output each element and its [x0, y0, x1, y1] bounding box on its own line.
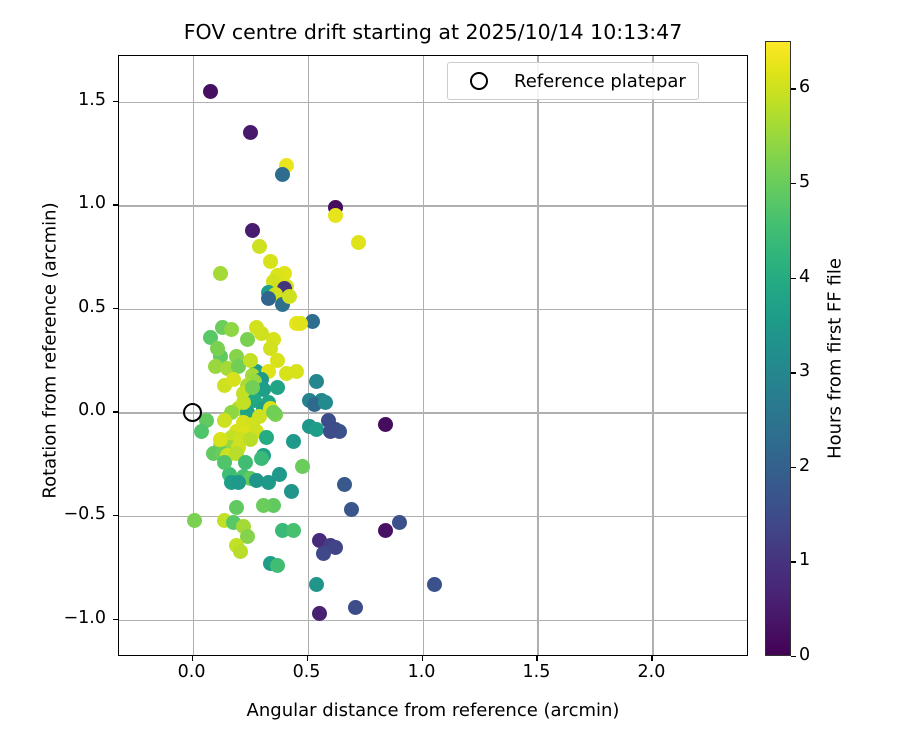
scatter-point[interactable]	[286, 434, 301, 449]
gridline-vertical	[193, 56, 194, 655]
gridline-horizontal	[119, 102, 747, 103]
x-tick-mark	[192, 656, 193, 661]
scatter-point[interactable]	[236, 395, 251, 410]
scatter-point[interactable]	[243, 353, 258, 368]
scatter-point[interactable]	[275, 167, 290, 182]
colorbar-tick-mark	[791, 183, 796, 184]
scatter-point[interactable]	[351, 235, 366, 250]
scatter-point[interactable]	[282, 289, 297, 304]
scatter-point[interactable]	[344, 502, 359, 517]
scatter-point[interactable]	[263, 254, 278, 269]
scatter-point[interactable]	[392, 515, 407, 530]
legend[interactable]: Reference platepar	[447, 62, 699, 100]
legend-entry-label: Reference platepar	[514, 71, 686, 92]
scatter-point[interactable]	[194, 424, 209, 439]
gridline-vertical	[537, 56, 538, 655]
x-axis-label: Angular distance from reference (arcmin)	[118, 700, 748, 721]
gridline-horizontal	[119, 516, 747, 517]
colorbar-tick-label: 0	[799, 645, 810, 665]
y-tick-mark	[113, 204, 118, 205]
gridline-vertical	[423, 56, 424, 655]
scatter-point[interactable]	[245, 380, 260, 395]
y-tick-mark	[113, 619, 118, 620]
x-tick-mark	[536, 656, 537, 661]
gridline-vertical	[652, 56, 653, 655]
scatter-point[interactable]	[427, 577, 442, 592]
y-tick-mark	[113, 308, 118, 309]
scatter-point[interactable]	[226, 372, 241, 387]
scatter-point[interactable]	[337, 477, 352, 492]
y-tick-mark	[113, 101, 118, 102]
scatter-point[interactable]	[323, 424, 338, 439]
scatter-point[interactable]	[272, 467, 287, 482]
scatter-point[interactable]	[210, 341, 225, 356]
colorbar-tick-mark	[791, 372, 796, 373]
plot-axes-area[interactable]	[118, 55, 748, 656]
scatter-point[interactable]	[213, 266, 228, 281]
scatter-point[interactable]	[217, 455, 232, 470]
scatter-point[interactable]	[252, 409, 267, 424]
scatter-point[interactable]	[240, 332, 255, 347]
gridline-horizontal	[119, 309, 747, 310]
y-tick-mark	[113, 411, 118, 412]
y-tick-mark	[113, 515, 118, 516]
x-tick-mark	[422, 656, 423, 661]
colorbar-tick-label: 2	[799, 456, 810, 476]
legend-open-circle-icon	[470, 72, 488, 90]
scatter-point[interactable]	[286, 523, 301, 538]
x-tick-mark	[651, 656, 652, 661]
scatter-point[interactable]	[312, 606, 327, 621]
scatter-point[interactable]	[270, 558, 285, 573]
figure-canvas: FOV centre drift starting at 2025/10/14 …	[0, 0, 900, 750]
scatter-point[interactable]	[284, 484, 299, 499]
scatter-point[interactable]	[378, 523, 393, 538]
scatter-point[interactable]	[261, 291, 276, 306]
x-tick-label: 1.5	[501, 662, 571, 682]
scatter-point[interactable]	[293, 316, 308, 331]
gridline-horizontal	[119, 412, 747, 413]
scatter-point[interactable]	[233, 544, 248, 559]
colorbar-tick-mark	[791, 561, 796, 562]
gridline-horizontal	[119, 620, 747, 621]
scatter-point[interactable]	[266, 405, 281, 420]
x-tick-label: 1.0	[387, 662, 457, 682]
colorbar-tick-mark	[791, 278, 796, 279]
reference-platepar-marker[interactable]	[183, 403, 202, 422]
scatter-point[interactable]	[231, 475, 246, 490]
gridline-vertical	[308, 56, 309, 655]
colorbar-tick-mark	[791, 656, 796, 657]
colorbar-tick-mark	[791, 467, 796, 468]
scatter-point[interactable]	[318, 395, 333, 410]
scatter-point[interactable]	[252, 239, 267, 254]
x-tick-label: 0.5	[272, 662, 342, 682]
colorbar-tick-label: 5	[799, 172, 810, 192]
colorbar-tick-label: 4	[799, 267, 810, 287]
scatter-point[interactable]	[224, 322, 239, 337]
gridline-horizontal	[119, 205, 747, 206]
scatter-point[interactable]	[203, 84, 218, 99]
scatter-point[interactable]	[328, 208, 343, 223]
y-axis-label: Rotation from reference (arcmin)	[40, 31, 61, 671]
colorbar-tick-mark	[791, 88, 796, 89]
colorbar-gradient[interactable]	[765, 41, 791, 656]
scatter-point[interactable]	[378, 417, 393, 432]
scatter-point[interactable]	[245, 223, 260, 238]
scatter-point[interactable]	[238, 455, 253, 470]
scatter-point[interactable]	[229, 500, 244, 515]
x-tick-label: 0.0	[157, 662, 227, 682]
scatter-point[interactable]	[254, 451, 269, 466]
colorbar-tick-label: 6	[799, 77, 810, 97]
scatter-point[interactable]	[316, 546, 331, 561]
scatter-point[interactable]	[259, 430, 274, 445]
scatter-point[interactable]	[243, 125, 258, 140]
scatter-point[interactable]	[213, 432, 228, 447]
colorbar-tick-label: 1	[799, 550, 810, 570]
scatter-point[interactable]	[270, 380, 285, 395]
scatter-point[interactable]	[289, 364, 304, 379]
chart-title: FOV centre drift starting at 2025/10/14 …	[118, 20, 748, 44]
scatter-point[interactable]	[187, 513, 202, 528]
x-tick-mark	[307, 656, 308, 661]
scatter-point[interactable]	[348, 600, 363, 615]
colorbar-tick-label: 3	[799, 361, 810, 381]
scatter-point[interactable]	[309, 577, 324, 592]
scatter-point[interactable]	[309, 374, 324, 389]
x-tick-label: 2.0	[616, 662, 686, 682]
colorbar-label: Hours from first FF file	[825, 49, 846, 669]
